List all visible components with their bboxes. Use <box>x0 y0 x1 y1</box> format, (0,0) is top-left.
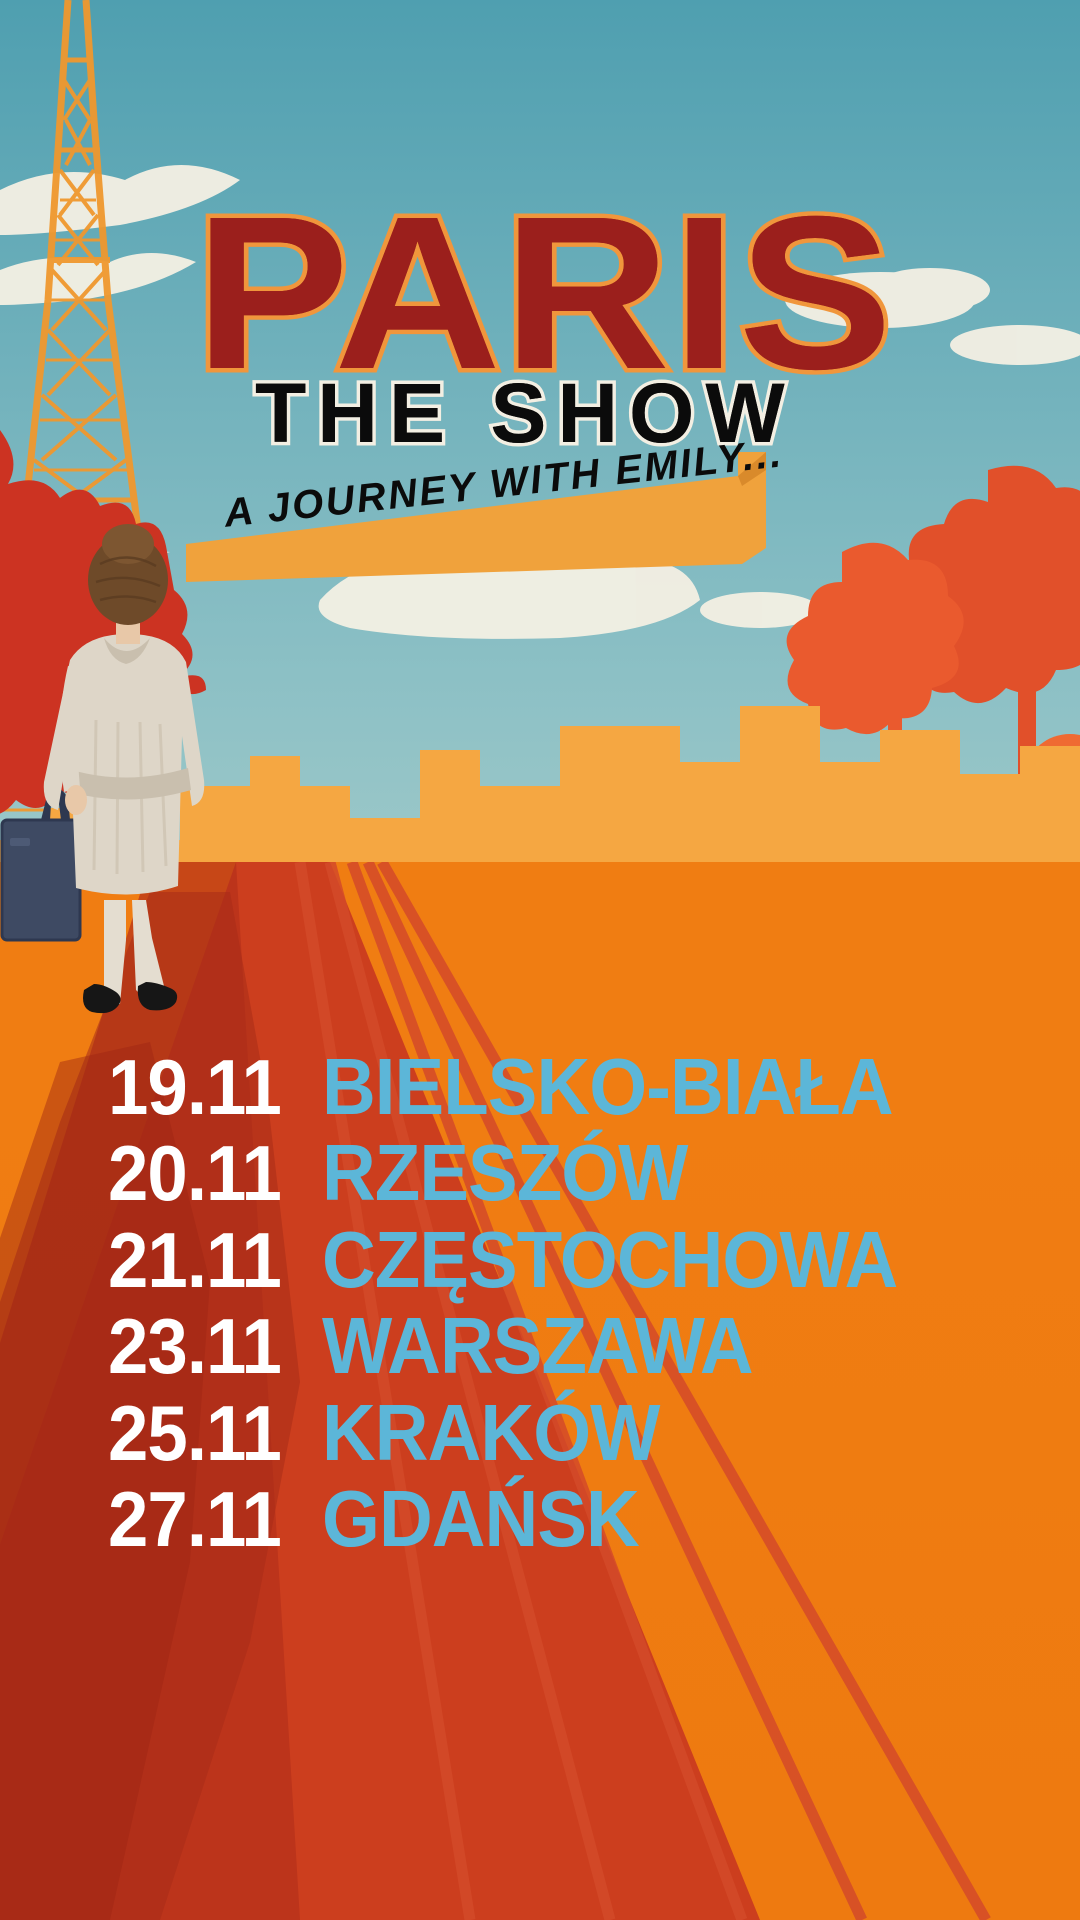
tour-city: KRAKÓW <box>322 1394 659 1472</box>
suitcase <box>2 788 80 940</box>
tour-date: 27.11 <box>108 1481 281 1557</box>
tour-row[interactable]: 21.11 CZĘSTOCHOWA <box>108 1221 1008 1299</box>
tour-row[interactable]: 20.11 RZESZÓW <box>108 1134 1008 1212</box>
tour-row[interactable]: 19.11 BIELSKO-BIAŁA <box>108 1048 1008 1126</box>
tour-date: 25.11 <box>108 1395 281 1471</box>
tour-city: RZESZÓW <box>322 1134 687 1212</box>
tour-date: 20.11 <box>108 1135 281 1211</box>
tour-date: 21.11 <box>108 1222 281 1298</box>
tour-row[interactable]: 27.11 GDAŃSK <box>108 1480 1008 1558</box>
tour-poster: PARIS PARIS THE SHOW THE SHOW A JOURNEY … <box>0 0 1080 1920</box>
tour-date: 23.11 <box>108 1308 281 1384</box>
tour-city: WARSZAWA <box>322 1307 753 1385</box>
tour-date: 19.11 <box>108 1049 281 1125</box>
tour-date-list: 19.11 BIELSKO-BIAŁA 20.11 RZESZÓW 21.11 … <box>108 1048 1008 1566</box>
tour-row[interactable]: 25.11 KRAKÓW <box>108 1394 1008 1472</box>
tour-row[interactable]: 23.11 WARSZAWA <box>108 1307 1008 1385</box>
tour-city: CZĘSTOCHOWA <box>322 1221 897 1299</box>
tour-city: BIELSKO-BIAŁA <box>322 1048 893 1126</box>
tour-city: GDAŃSK <box>322 1480 639 1558</box>
